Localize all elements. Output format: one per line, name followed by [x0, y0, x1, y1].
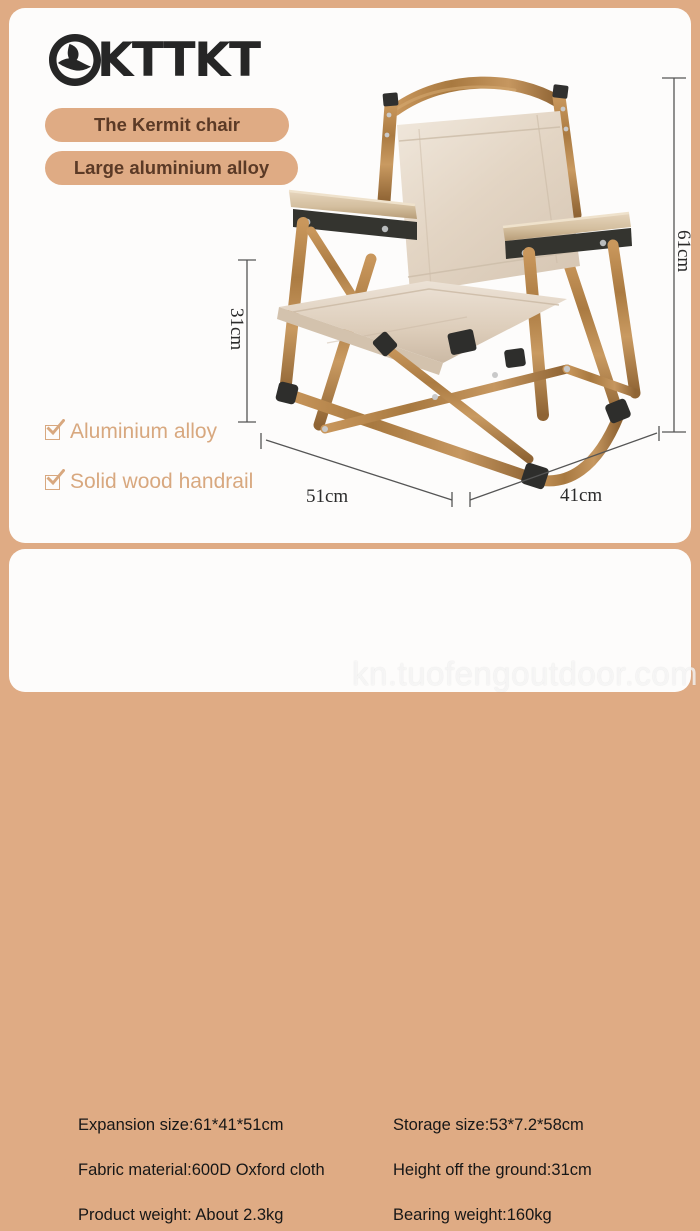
spec-label: Fabric material:600D Oxford cloth — [78, 1161, 325, 1180]
feature-label: Solid wood handrail — [70, 470, 253, 494]
dimension-label-seat-height: 31cm — [225, 308, 247, 350]
feature-item-aluminium-alloy: Aluminium alloy — [45, 420, 217, 444]
spec-label: Product weight: About 2.3kg — [78, 1206, 283, 1225]
dimension-label-overall-height: 61cm — [672, 230, 694, 272]
product-hero-card: KTTKT The Kermit chair Large aluminium a… — [9, 8, 691, 543]
spec-label: Height off the ground:31cm — [393, 1161, 592, 1180]
feature-label: Aluminium alloy — [70, 420, 217, 444]
headline-pill-aluminium-alloy: Large aluminium alloy — [45, 151, 298, 185]
spec-label: Expansion size:61*41*51cm — [78, 1116, 283, 1135]
spec-expansion-size: Expansion size:61*41*51cm — [64, 1110, 348, 1141]
dimension-label-depth: 41cm — [560, 485, 602, 507]
brand-logo: KTTKT — [45, 30, 260, 90]
feature-item-solid-wood-handrail: Solid wood handrail — [45, 470, 253, 494]
headline-pill-label: Large aluminium alloy — [74, 157, 269, 179]
dimension-label-width: 51cm — [306, 486, 348, 508]
spec-fabric-material: Fabric material:600D Oxford cloth — [64, 1155, 348, 1186]
headline-pill-kermit-chair: The Kermit chair — [45, 108, 289, 142]
spec-bearing-weight: Bearing weight:160kg — [379, 1200, 678, 1231]
spec-label: Bearing weight:160kg — [393, 1206, 552, 1225]
checkbox-checked-icon — [45, 423, 64, 442]
site-watermark: kn.tuofengoutdoor.com — [352, 655, 698, 693]
circular-leaf-icon — [45, 30, 105, 90]
spec-label: Storage size:53*7.2*58cm — [393, 1116, 584, 1135]
headline-pill-label: The Kermit chair — [94, 114, 240, 136]
infographic-page: KTTKT The Kermit chair Large aluminium a… — [0, 0, 700, 700]
product-photo-folding-chair — [267, 63, 667, 508]
brand-wordmark: KTTKT — [97, 37, 260, 84]
spec-storage-size: Storage size:53*7.2*58cm — [379, 1110, 678, 1141]
spec-product-weight: Product weight: About 2.3kg — [64, 1200, 348, 1231]
spec-height-off-ground: Height off the ground:31cm — [379, 1155, 678, 1186]
checkbox-checked-icon — [45, 473, 64, 492]
